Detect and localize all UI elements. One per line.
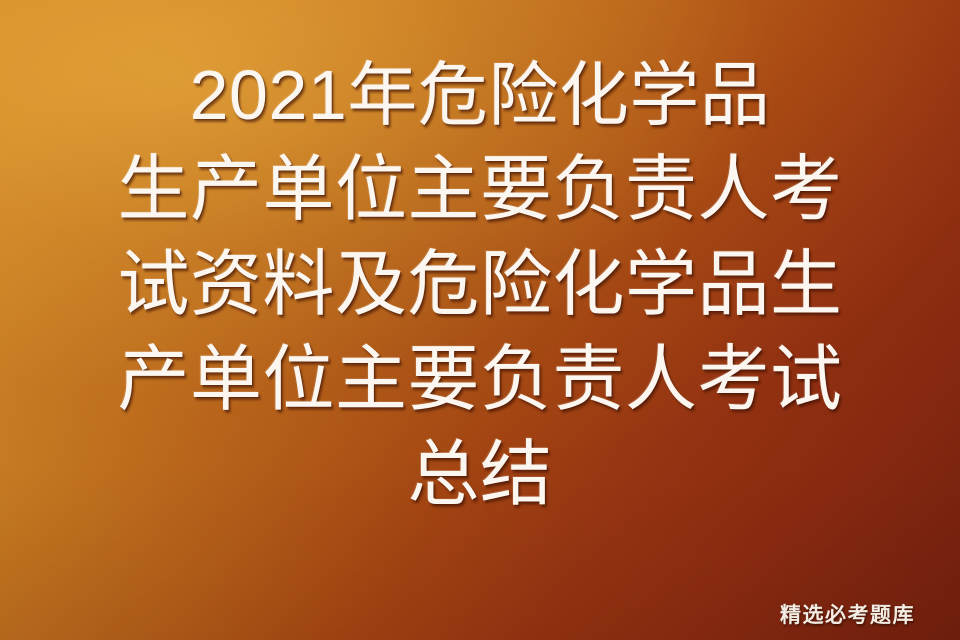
title-line-2: 生产单位主要负责人考	[0, 143, 960, 238]
title-line-1: 2021年危险化学品	[0, 48, 960, 143]
title-line-3: 试资料及危险化学品生	[0, 238, 960, 333]
title-line-5: 总结	[0, 428, 960, 523]
title-line-4: 产单位主要负责人考试	[0, 333, 960, 428]
watermark-label: 精选必考题库	[780, 604, 915, 628]
page-title: 2021年危险化学品 生产单位主要负责人考 试资料及危险化学品生 产单位主要负责…	[0, 48, 960, 523]
cover-card: 2021年危险化学品 生产单位主要负责人考 试资料及危险化学品生 产单位主要负责…	[0, 0, 960, 640]
